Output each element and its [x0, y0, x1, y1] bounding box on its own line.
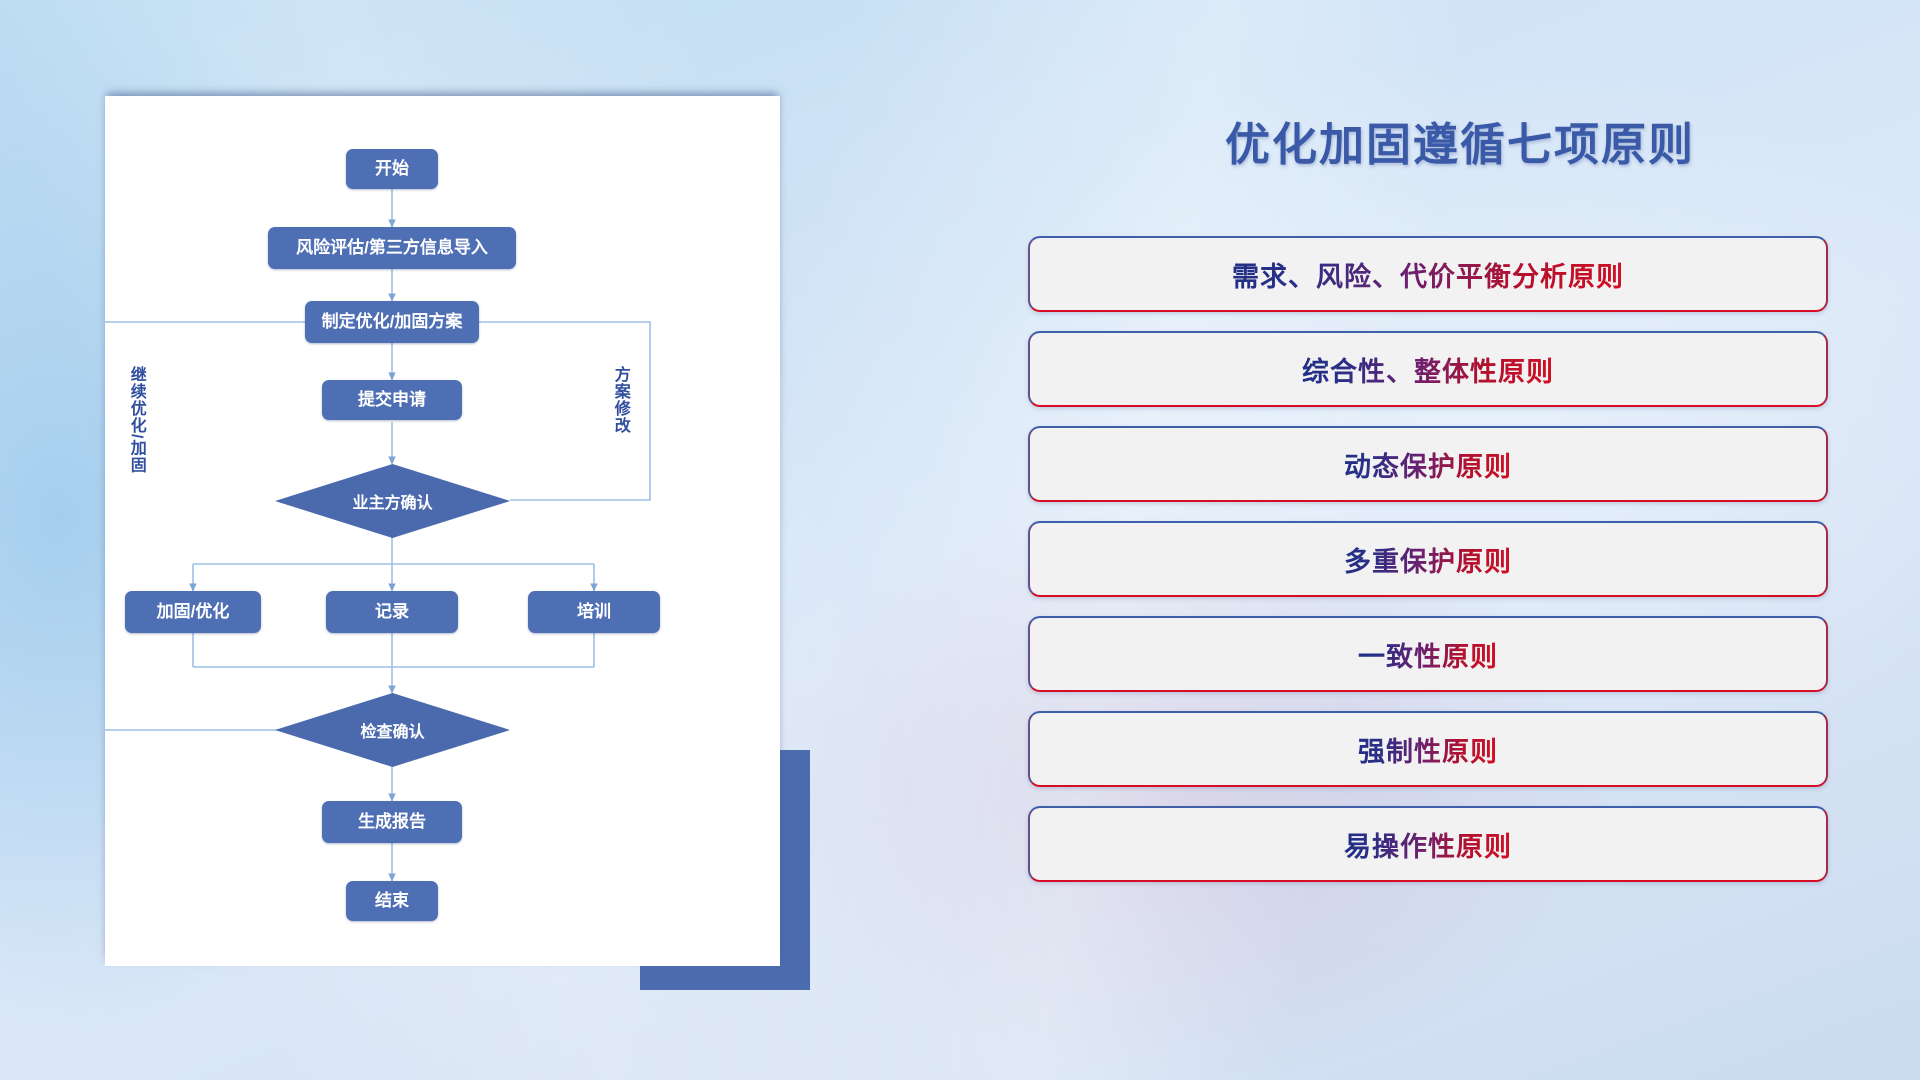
principle-item[interactable]: 强制性原则: [1028, 711, 1828, 787]
flow-decision-inspection[interactable]: 检查确认: [275, 693, 510, 767]
principles-panel: 优化加固遵循七项原则 需求、风险、代价平衡分析原则 综合性、整体性原则 动态保护…: [1020, 0, 1900, 1080]
principle-label: 综合性、整体性原则: [1302, 350, 1554, 389]
principle-label: 易操作性原则: [1344, 825, 1512, 864]
flow-decision-owner-confirm-label: 业主方确认: [352, 489, 432, 513]
flow-node-training[interactable]: 培训: [528, 591, 660, 633]
flow-node-reinforce[interactable]: 加固/优化: [125, 591, 261, 633]
principle-item[interactable]: 动态保护原则: [1028, 426, 1828, 502]
flow-node-start[interactable]: 开始: [346, 149, 438, 189]
panel-title: 优化加固遵循七项原则: [1020, 108, 1900, 173]
flow-decision-owner-confirm[interactable]: 业主方确认: [275, 464, 510, 538]
flow-node-report[interactable]: 生成报告: [322, 801, 462, 843]
edge-label-plan-revision: 方案修改: [611, 366, 628, 434]
principle-label: 多重保护原则: [1344, 540, 1512, 579]
principle-label: 需求、风险、代价平衡分析原则: [1232, 255, 1624, 294]
flow-node-submit[interactable]: 提交申请: [322, 380, 462, 420]
principle-item[interactable]: 综合性、整体性原则: [1028, 331, 1828, 407]
slide-root: 开始 风险评估/第三方信息导入 制定优化/加固方案 提交申请 业主方确认 加固/…: [0, 0, 1920, 1080]
principle-label: 强制性原则: [1358, 730, 1498, 769]
principle-label: 动态保护原则: [1344, 445, 1512, 484]
principle-item[interactable]: 需求、风险、代价平衡分析原则: [1028, 236, 1828, 312]
principle-item[interactable]: 易操作性原则: [1028, 806, 1828, 882]
flowchart-card: 开始 风险评估/第三方信息导入 制定优化/加固方案 提交申请 业主方确认 加固/…: [105, 96, 780, 966]
principle-label: 一致性原则: [1358, 635, 1498, 674]
edge-label-continue-optimize: 继续优化/加固: [127, 366, 144, 473]
principle-list: 需求、风险、代价平衡分析原则 综合性、整体性原则 动态保护原则 多重保护原则 一…: [1028, 236, 1828, 901]
flowchart: 开始 风险评估/第三方信息导入 制定优化/加固方案 提交申请 业主方确认 加固/…: [105, 96, 780, 966]
flow-node-record[interactable]: 记录: [326, 591, 458, 633]
flow-decision-inspection-label: 检查确认: [360, 718, 424, 742]
principle-item[interactable]: 多重保护原则: [1028, 521, 1828, 597]
flow-node-end[interactable]: 结束: [346, 881, 438, 921]
flow-node-plan[interactable]: 制定优化/加固方案: [305, 301, 479, 343]
principle-item[interactable]: 一致性原则: [1028, 616, 1828, 692]
flow-node-risk-assessment[interactable]: 风险评估/第三方信息导入: [268, 227, 516, 269]
